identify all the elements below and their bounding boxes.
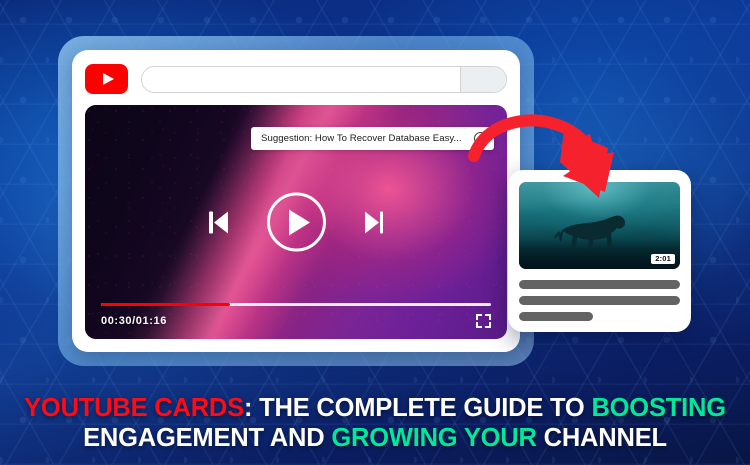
headline-segment: : THE COMPLETE GUIDE TO (244, 394, 592, 422)
headline-segment: GROWING YOUR (331, 424, 536, 452)
video-center-controls (85, 193, 507, 252)
headline-segment: BOOSTING (591, 394, 725, 422)
play-triangle-glyph (103, 73, 114, 85)
youtube-logo-icon[interactable] (85, 64, 128, 94)
previous-bar-glyph (209, 211, 213, 233)
next-bar-glyph (380, 211, 384, 233)
video-bottom-bar: 00:30/01:16 (101, 303, 491, 328)
skeleton-line (519, 280, 680, 289)
video-duration-badge: 2:01 (651, 254, 675, 265)
previous-triangle-glyph (214, 211, 228, 233)
skeleton-line (519, 296, 680, 305)
play-triangle-glyph (289, 209, 310, 235)
suggestion-card-text: Suggestion: How To Recover Database Easy… (261, 133, 466, 144)
browser-window: Suggestion: How To Recover Database Easy… (72, 50, 520, 352)
suggested-card-skeleton-lines (519, 280, 680, 321)
play-button[interactable] (267, 193, 326, 252)
fullscreen-corner-bl (476, 322, 482, 328)
browser-window-frame: Suggestion: How To Recover Database Easy… (58, 36, 534, 366)
fullscreen-corner-br (485, 322, 491, 328)
headline-segment: ENGAGEMENT AND (83, 424, 331, 452)
search-bar[interactable] (141, 66, 507, 93)
search-input[interactable] (142, 67, 460, 92)
fullscreen-corner-tr (485, 314, 491, 320)
headline-line-2: ENGAGEMENT AND GROWING YOUR CHANNEL (0, 423, 750, 453)
banner-stage: Suggestion: How To Recover Database Easy… (0, 0, 750, 465)
suggested-video-card[interactable]: 2:01 (508, 170, 691, 332)
headline-segment: CHANNEL (537, 424, 667, 452)
headline: YOUTUBE CARDS: THE COMPLETE GUIDE TO BOO… (0, 393, 750, 453)
search-button[interactable] (460, 67, 506, 92)
headline-segment: YOUTUBE CARDS (24, 394, 244, 422)
video-player[interactable]: Suggestion: How To Recover Database Easy… (85, 105, 507, 339)
next-triangle-glyph (365, 211, 379, 233)
video-bottom-row: 00:30/01:16 (101, 314, 491, 328)
headline-line-1: YOUTUBE CARDS: THE COMPLETE GUIDE TO BOO… (0, 393, 750, 423)
progress-bar-track[interactable] (101, 303, 491, 306)
browser-top-bar (85, 62, 507, 96)
next-track-button[interactable] (365, 211, 384, 233)
skeleton-line (519, 312, 593, 321)
suggestion-card[interactable]: Suggestion: How To Recover Database Easy… (251, 127, 494, 150)
horse-silhouette-icon (542, 205, 642, 259)
progress-bar-fill (101, 303, 230, 306)
previous-track-button[interactable] (209, 211, 228, 233)
suggested-video-thumbnail[interactable]: 2:01 (519, 182, 680, 269)
info-icon[interactable]: i (474, 132, 487, 145)
fullscreen-icon[interactable] (476, 314, 491, 328)
video-timestamp: 00:30/01:16 (101, 315, 167, 327)
fullscreen-corner-tl (476, 314, 482, 320)
